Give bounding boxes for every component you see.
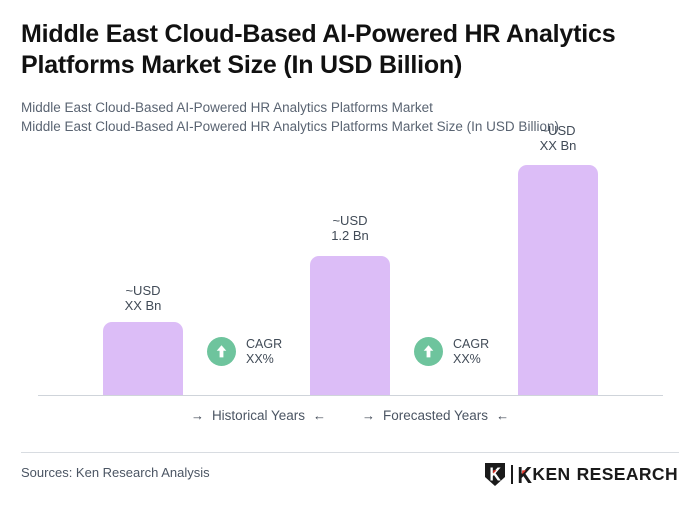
bar-2[interactable] — [310, 256, 390, 395]
bar-value-line1-2: ~USD — [290, 214, 410, 229]
year-range-legend: → Historical Years ← → Forecasted Years … — [0, 408, 700, 423]
sources-text: Sources: Ken Research Analysis — [21, 465, 210, 480]
chart-page: Middle East Cloud-Based AI-Powered HR An… — [0, 0, 700, 520]
logo-text-research: RESEARCH — [577, 466, 678, 484]
arrow-right-icon: → — [191, 409, 204, 422]
logo-k-icon — [518, 466, 533, 484]
page-title: Middle East Cloud-Based AI-Powered HR An… — [21, 19, 661, 81]
bar-value-line1-1: ~USD — [83, 284, 203, 299]
cagr-badge-2[interactable]: CAGR XX% — [414, 337, 489, 366]
logo-text-ken: KEN — [532, 466, 570, 484]
ken-research-logo: KEN RESEARCH — [484, 462, 678, 487]
cagr-text-1: CAGR XX% — [246, 337, 282, 366]
cagr-value-1: XX% — [246, 352, 282, 367]
bar-value-line2-3: XX Bn — [498, 139, 618, 154]
arrow-up-icon — [207, 337, 236, 366]
bar-1[interactable] — [103, 322, 183, 395]
cagr-label-2: CAGR — [453, 337, 489, 352]
cagr-value-2: XX% — [453, 352, 489, 367]
legend-label-historical: Historical Years — [212, 408, 305, 423]
bar-value-label-2: ~USD 1.2 Bn — [290, 214, 410, 243]
legend-item-forecasted: → Forecasted Years ← — [362, 408, 509, 423]
subtitle-line-1: Middle East Cloud-Based AI-Powered HR An… — [21, 98, 681, 117]
bar-value-line2-1: XX Bn — [83, 299, 203, 314]
logo-wordmark: KEN RESEARCH — [518, 466, 678, 484]
cagr-text-2: CAGR XX% — [453, 337, 489, 366]
axis-baseline — [38, 395, 663, 396]
arrow-left-icon: ← — [313, 409, 326, 422]
cagr-badge-1[interactable]: CAGR XX% — [207, 337, 282, 366]
footer-divider — [21, 452, 679, 453]
legend-item-historical: → Historical Years ← — [191, 408, 326, 423]
bar-value-label-3: ~USD XX Bn — [498, 124, 618, 153]
arrow-left-icon: ← — [496, 409, 509, 422]
ken-shield-icon — [484, 462, 506, 487]
logo-divider — [511, 465, 513, 484]
arrow-up-icon — [414, 337, 443, 366]
bar-3[interactable] — [518, 165, 598, 395]
legend-label-forecasted: Forecasted Years — [383, 408, 488, 423]
arrow-right-icon: → — [362, 409, 375, 422]
bar-value-label-1: ~USD XX Bn — [83, 284, 203, 313]
cagr-label-1: CAGR — [246, 337, 282, 352]
bar-value-line2-2: 1.2 Bn — [290, 229, 410, 244]
bar-value-line1-3: ~USD — [498, 124, 618, 139]
